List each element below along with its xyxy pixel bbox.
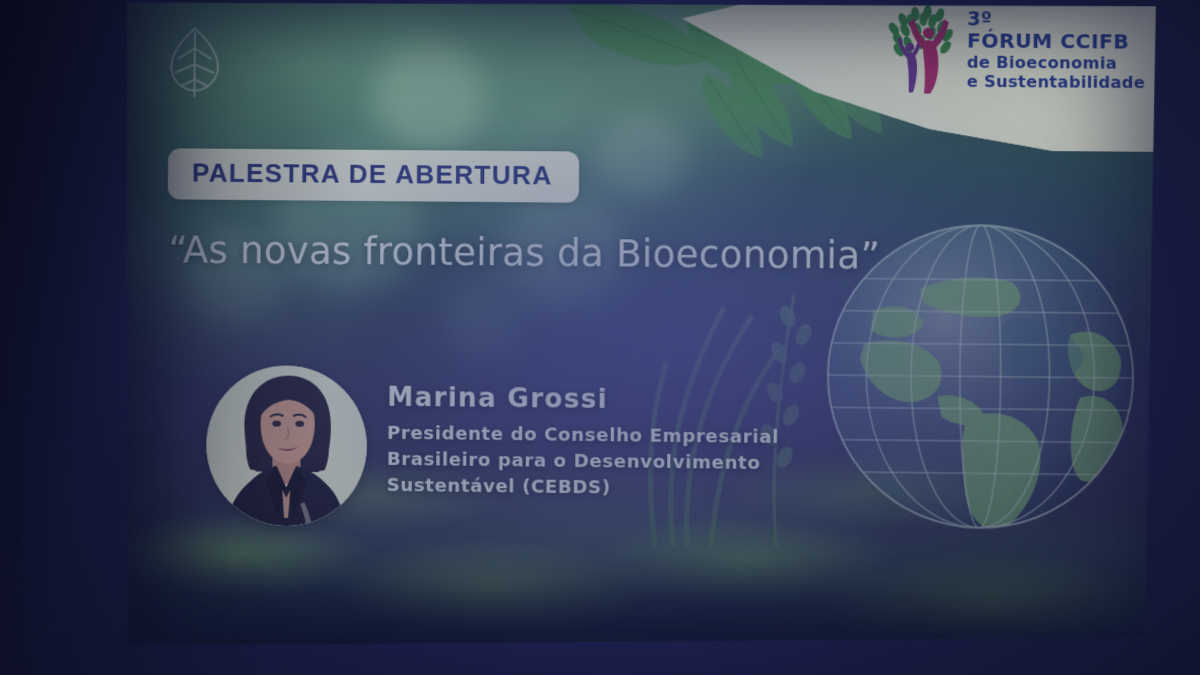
logo-line-bioeconomia: de Bioeconomia — [967, 52, 1146, 73]
slide-title: “As novas fronteiras da Bioeconomia” — [168, 228, 915, 278]
presentation-slide: PALESTRA DE ABERTURA “As novas fronteira… — [121, 0, 1156, 661]
tree-people-logo-icon — [883, 5, 959, 94]
logo-line-forum: FÓRUM CCIFB — [967, 29, 1146, 53]
logo-line-sustentabilidade: e Sustentabilidade — [967, 72, 1146, 93]
speaker-block: Marina Grossi Presidente do Conselho Emp… — [200, 359, 780, 546]
opening-lecture-badge: PALESTRA DE ABERTURA — [168, 148, 579, 202]
logo-line-edition: 3º — [967, 9, 1146, 30]
speaker-role-line-1: Presidente do Conselho Empresarial — [387, 421, 779, 451]
badge-label: PALESTRA DE ABERTURA — [192, 158, 553, 192]
projection-room: PALESTRA DE ABERTURA “As novas fronteira… — [0, 0, 1200, 675]
speaker-text-block: Marina Grossi Presidente do Conselho Emp… — [373, 360, 780, 503]
speaker-role-line-2: Brasileiro para o Desenvolvimento — [387, 447, 779, 477]
leaf-outline-icon — [162, 22, 227, 98]
speaker-portrait-avatar — [200, 359, 374, 541]
ground-shadow — [121, 543, 1152, 661]
event-logo: 3º FÓRUM CCIFB de Bioeconomia e Sustenta… — [883, 5, 1145, 96]
event-logo-text: 3º FÓRUM CCIFB de Bioeconomia e Sustenta… — [967, 5, 1146, 93]
avatar-disc — [206, 365, 367, 527]
speaker-name: Marina Grossi — [387, 383, 779, 417]
speaker-role-line-3: Sustentável (CEBDS) — [387, 473, 779, 503]
